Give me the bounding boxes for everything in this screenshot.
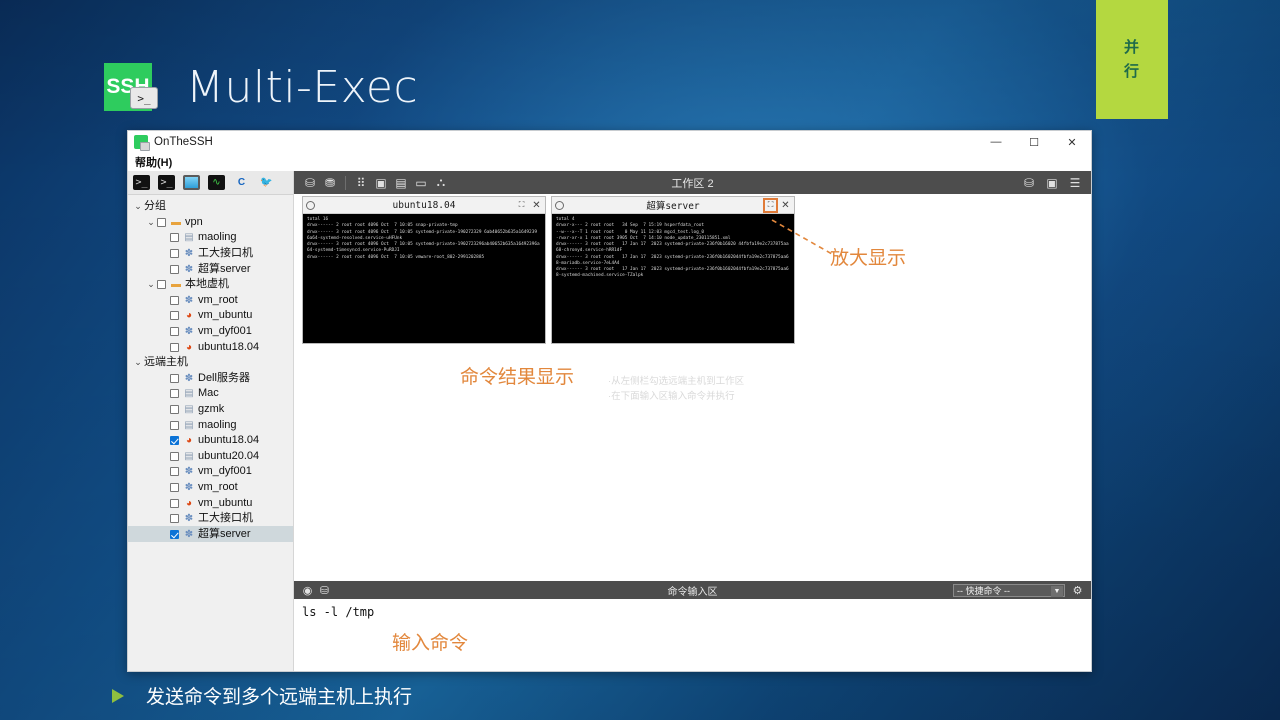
chevron-down-icon[interactable]: ⌄ bbox=[158, 404, 170, 415]
ubuntu-icon: ◕ bbox=[183, 310, 195, 321]
disk-icon[interactable]: ▭ bbox=[411, 173, 431, 192]
terminal-output: total 16 drwx------ 2 root root 4096 Oct… bbox=[303, 214, 545, 343]
parallel-tag-char-2: 行 bbox=[1124, 60, 1140, 83]
chevron-down-icon[interactable]: ⌄ bbox=[158, 342, 170, 353]
cpu-icon[interactable]: ▣ bbox=[371, 173, 391, 192]
annotation-hint-2: ·在下面输入区输入命令并执行 bbox=[608, 390, 744, 405]
puzzle-icon: ✽ bbox=[183, 482, 195, 493]
tree-item-label: vm_root bbox=[198, 482, 238, 493]
menu-item-help[interactable]: 帮助(H) bbox=[135, 154, 172, 170]
ubuntu-icon: ◕ bbox=[183, 435, 195, 446]
tree-item-checkbox[interactable] bbox=[170, 389, 179, 398]
chevron-down-icon[interactable]: ⌄ bbox=[158, 264, 170, 275]
tree-item-checkbox[interactable] bbox=[170, 343, 179, 352]
clipboard-icon[interactable]: ⛁ bbox=[316, 583, 333, 598]
puzzle-icon: ✽ bbox=[183, 295, 195, 306]
close-icon[interactable]: ✕ bbox=[780, 200, 791, 211]
folder-icon: ▬ bbox=[170, 279, 182, 290]
tree-item[interactable]: ⌄▤Mac bbox=[128, 386, 293, 402]
tree-item[interactable]: ⌄✽vm_root bbox=[128, 480, 293, 496]
tree-item-label: maoling bbox=[198, 232, 237, 243]
doc-icon: ▤ bbox=[183, 404, 195, 415]
tree-item-checkbox[interactable] bbox=[170, 405, 179, 414]
terminal-panel-header: 超算server⛶✕ bbox=[552, 197, 794, 214]
host-tree[interactable]: ⌄分组⌄▬vpn⌄▤maoling⌄✽工大接口机⌄✽超算server⌄▬本地虚机… bbox=[128, 195, 293, 671]
triangle-bullet-icon bbox=[112, 689, 124, 703]
maximize-button[interactable]: ☐ bbox=[1015, 131, 1053, 153]
tree-item-label: maoling bbox=[198, 420, 237, 431]
chevron-down-icon[interactable]: ⌄ bbox=[158, 435, 170, 446]
tree-item[interactable]: ⌄◕ubuntu18.04 bbox=[128, 339, 293, 355]
tree-item-label: gzmk bbox=[198, 404, 224, 415]
tree-item-checkbox[interactable] bbox=[170, 436, 179, 445]
tree-item-checkbox[interactable] bbox=[170, 421, 179, 430]
parallel-tag-char-1: 并 bbox=[1124, 36, 1140, 59]
chevron-down-icon[interactable]: ⌄ bbox=[145, 279, 157, 290]
chevron-down-icon[interactable]: ▼ bbox=[1051, 586, 1063, 597]
command-bar-right: -- 快捷命令 -- ▼ ⚙ bbox=[953, 583, 1086, 598]
upload-icon[interactable]: ⛁ bbox=[300, 173, 320, 192]
tree-item[interactable]: ⌄✽超算server bbox=[128, 526, 293, 542]
puzzle-icon: ✽ bbox=[183, 529, 195, 540]
bottom-bullet-text: 发送命令到多个远端主机上执行 bbox=[146, 682, 412, 709]
circle-icon bbox=[306, 201, 315, 210]
download-icon[interactable]: ⛃ bbox=[320, 173, 340, 192]
tree-item-checkbox[interactable] bbox=[170, 530, 179, 539]
tree-item[interactable]: ⌄✽vm_dyf001 bbox=[128, 324, 293, 340]
bottom-bullet: 发送命令到多个远端主机上执行 bbox=[112, 682, 412, 709]
tree-item[interactable]: ⌄◕ubuntu18.04 bbox=[128, 433, 293, 449]
tree-item-checkbox[interactable] bbox=[170, 311, 179, 320]
puzzle-icon: ✽ bbox=[183, 466, 195, 477]
tree-item-label: vm_dyf001 bbox=[198, 326, 252, 337]
clipboard-icon[interactable]: ⛁ bbox=[1019, 173, 1039, 192]
puzzle-icon: ✽ bbox=[183, 248, 195, 259]
play-icon[interactable]: ◉ bbox=[299, 583, 316, 598]
terminal-panel-title: ubuntu18.04 bbox=[303, 200, 545, 211]
tree-item-checkbox[interactable] bbox=[157, 218, 166, 227]
tree-item-checkbox[interactable] bbox=[170, 499, 179, 508]
terminal-panel-title: 超算server bbox=[552, 198, 794, 212]
tree-item-label: vm_ubuntu bbox=[198, 498, 252, 509]
main-area: ⛁ ⛃ ⠿ ▣ ▤ ▭ ⛬ 工作区 2 ⛁ ▣ ☰ ubuntu18.04⛶✕t… bbox=[294, 171, 1091, 671]
tree-item-label: vpn bbox=[185, 217, 203, 228]
tree-item-checkbox[interactable] bbox=[170, 249, 179, 258]
doc-icon: ▤ bbox=[183, 388, 195, 399]
sidebar: >_ >_ ∿ C 🐦 ⌄分组⌄▬vpn⌄▤maoling⌄✽工大接口机⌄✽超算… bbox=[128, 171, 294, 671]
quick-command-value: -- 快捷命令 -- bbox=[957, 584, 1010, 597]
tree-item-checkbox[interactable] bbox=[170, 296, 179, 305]
terminal-icon[interactable]: >_ bbox=[133, 175, 150, 190]
chevron-down-icon[interactable]: ⌄ bbox=[158, 451, 170, 462]
tree-item-checkbox[interactable] bbox=[157, 280, 166, 289]
tree-item-label: vm_ubuntu bbox=[198, 310, 252, 321]
expand-icon[interactable]: ⛶ bbox=[765, 200, 776, 211]
puzzle-icon: ✽ bbox=[183, 326, 195, 337]
terminal-panel[interactable]: ubuntu18.04⛶✕total 16 drwx------ 2 root … bbox=[302, 196, 546, 344]
annotation-hints: ·从左侧栏勾选远端主机到工作区 ·在下面输入区输入命令并执行 bbox=[608, 375, 744, 404]
window-title: OnTheSSH bbox=[154, 136, 213, 148]
close-button[interactable]: ✕ bbox=[1053, 131, 1091, 153]
doc-icon: ▤ bbox=[183, 420, 195, 431]
tree-item-label: ubuntu18.04 bbox=[198, 435, 259, 446]
file-icon[interactable]: ▤ bbox=[391, 173, 411, 192]
tree-item[interactable]: ⌄✽工大接口机 bbox=[128, 246, 293, 262]
tree-item[interactable]: ⌄▤gzmk bbox=[128, 402, 293, 418]
chevron-down-icon[interactable]: ⌄ bbox=[158, 373, 170, 384]
doc-icon: ▤ bbox=[183, 232, 195, 243]
tree-item-checkbox[interactable] bbox=[170, 327, 179, 336]
tree-item[interactable]: ⌄▤ubuntu20.04 bbox=[128, 449, 293, 465]
chevron-down-icon[interactable]: ⌄ bbox=[158, 466, 170, 477]
close-icon[interactable]: ✕ bbox=[531, 200, 542, 211]
chevron-down-icon[interactable]: ⌄ bbox=[158, 498, 170, 509]
shell-icon[interactable]: >_ bbox=[158, 175, 175, 190]
tree-item[interactable]: ⌄远端主机 bbox=[128, 355, 293, 371]
tree-item-checkbox[interactable] bbox=[170, 514, 179, 523]
tree-item[interactable]: ⌄分组 bbox=[128, 199, 293, 215]
menubar: 帮助(H) bbox=[128, 153, 1091, 171]
terminal-output: total 4 drwxr-x--- 2 root root 34 Sep 7 … bbox=[552, 214, 794, 343]
tree-item-label: Dell服务器 bbox=[198, 373, 250, 384]
chevron-down-icon[interactable]: ⌄ bbox=[132, 201, 144, 212]
ssh-logo: SSH >_ bbox=[104, 63, 156, 115]
chevron-down-icon[interactable]: ⌄ bbox=[158, 420, 170, 431]
terminal-panel-buttons: ⛶✕ bbox=[765, 200, 791, 211]
tree-item[interactable]: ⌄✽vm_root bbox=[128, 293, 293, 309]
terminal-panel-buttons: ⛶✕ bbox=[516, 200, 542, 211]
tree-item-label: 工大接口机 bbox=[198, 248, 253, 259]
tree-item-label: vm_dyf001 bbox=[198, 466, 252, 477]
tree-item[interactable]: ⌄◕vm_ubuntu bbox=[128, 495, 293, 511]
tree-item-label: ubuntu20.04 bbox=[198, 451, 259, 462]
puzzle-icon: ✽ bbox=[183, 513, 195, 524]
tree-item-checkbox[interactable] bbox=[170, 452, 179, 461]
annotation-hint-1: ·从左侧栏勾选远端主机到工作区 bbox=[608, 375, 744, 390]
chevron-down-icon[interactable]: ⌄ bbox=[158, 529, 170, 540]
circle-icon bbox=[555, 201, 564, 210]
tree-item[interactable]: ⌄▬本地虚机 bbox=[128, 277, 293, 293]
tree-item-checkbox[interactable] bbox=[170, 233, 179, 242]
tree-item-label: ubuntu18.04 bbox=[198, 342, 259, 353]
chevron-down-icon[interactable]: ⌄ bbox=[158, 248, 170, 259]
minimize-button[interactable]: — bbox=[977, 131, 1015, 153]
tree-item-label: Mac bbox=[198, 388, 219, 399]
chevron-down-icon[interactable]: ⌄ bbox=[145, 217, 157, 228]
annotation-result: 命令结果显示 bbox=[460, 362, 574, 389]
sidebar-toolbar: >_ >_ ∿ C 🐦 bbox=[128, 171, 293, 195]
annotation-input: 输入命令 bbox=[392, 628, 468, 655]
expand-icon[interactable]: ⛶ bbox=[516, 200, 527, 211]
quick-command-select[interactable]: -- 快捷命令 -- ▼ bbox=[953, 584, 1065, 597]
tree-item[interactable]: ⌄✽Dell服务器 bbox=[128, 371, 293, 387]
parallel-tag: 并 行 bbox=[1096, 0, 1168, 119]
doc-icon: ▤ bbox=[183, 451, 195, 462]
tree-item[interactable]: ⌄▤maoling bbox=[128, 230, 293, 246]
monitor-graph-icon[interactable]: ∿ bbox=[208, 175, 225, 190]
window-controls: — ☐ ✕ bbox=[977, 131, 1091, 153]
chevron-down-icon[interactable]: ⌄ bbox=[158, 232, 170, 243]
tree-item[interactable]: ⌄✽超算server bbox=[128, 261, 293, 277]
workspace-toolbar: ⛁ ⛃ ⠿ ▣ ▤ ▭ ⛬ 工作区 2 ⛁ ▣ ☰ bbox=[294, 171, 1091, 194]
puzzle-icon: ✽ bbox=[183, 373, 195, 384]
annotation-zoom: 放大显示 bbox=[830, 243, 906, 270]
page-title: Multi-Exec bbox=[186, 62, 418, 113]
c-icon[interactable]: C bbox=[233, 175, 250, 190]
tree-item-label: 工大接口机 bbox=[198, 513, 253, 524]
chevron-down-icon[interactable]: ⌄ bbox=[158, 295, 170, 306]
app-icon bbox=[134, 135, 148, 149]
chevron-down-icon[interactable]: ⌄ bbox=[158, 388, 170, 399]
tree-item-label: 远端主机 bbox=[144, 357, 188, 368]
chevron-down-icon[interactable]: ⌄ bbox=[158, 482, 170, 493]
terminal-icon[interactable]: ▣ bbox=[1042, 173, 1062, 192]
tree-item[interactable]: ⌄◕vm_ubuntu bbox=[128, 308, 293, 324]
tree-item-label: vm_root bbox=[198, 295, 238, 306]
terminal-panel-header: ubuntu18.04⛶✕ bbox=[303, 197, 545, 214]
tree-item[interactable]: ⌄▬vpn bbox=[128, 215, 293, 231]
toolbar-divider bbox=[345, 176, 346, 190]
tree-item-label: 本地虚机 bbox=[185, 279, 229, 290]
grid-icon[interactable]: ⠿ bbox=[351, 173, 371, 192]
chevron-down-icon[interactable]: ⌄ bbox=[132, 357, 144, 368]
tree-item[interactable]: ⌄▤maoling bbox=[128, 417, 293, 433]
network-icon[interactable]: ⛬ bbox=[431, 173, 451, 192]
workspace-toolbar-right: ⛁ ▣ ☰ bbox=[1019, 173, 1085, 192]
monitor-icon[interactable] bbox=[183, 175, 200, 190]
tree-item-checkbox[interactable] bbox=[170, 265, 179, 274]
tree-item-label: 超算server bbox=[198, 529, 251, 540]
bird-icon[interactable]: 🐦 bbox=[258, 175, 275, 190]
list-icon[interactable]: ☰ bbox=[1065, 173, 1085, 192]
command-bar: ◉ ⛁ 命令输入区 -- 快捷命令 -- ▼ ⚙ bbox=[294, 581, 1091, 599]
window-titlebar: OnTheSSH — ☐ ✕ bbox=[128, 131, 1091, 153]
gear-icon[interactable]: ⚙ bbox=[1069, 583, 1086, 598]
terminal-panel[interactable]: 超算server⛶✕total 4 drwxr-x--- 2 root root… bbox=[551, 196, 795, 344]
folder-icon: ▬ bbox=[170, 217, 182, 228]
tree-item[interactable]: ⌄✽vm_dyf001 bbox=[128, 464, 293, 480]
puzzle-icon: ✽ bbox=[183, 264, 195, 275]
tree-item-label: 分组 bbox=[144, 201, 166, 212]
ubuntu-icon: ◕ bbox=[183, 342, 195, 353]
tree-item-checkbox[interactable] bbox=[170, 374, 179, 383]
terminal-badge-icon: >_ bbox=[130, 87, 158, 109]
tree-item-checkbox[interactable] bbox=[170, 467, 179, 476]
chevron-down-icon[interactable]: ⌄ bbox=[158, 326, 170, 337]
chevron-down-icon[interactable]: ⌄ bbox=[158, 513, 170, 524]
chevron-down-icon[interactable]: ⌄ bbox=[158, 310, 170, 321]
tree-item-checkbox[interactable] bbox=[170, 483, 179, 492]
tree-item[interactable]: ⌄✽工大接口机 bbox=[128, 511, 293, 527]
tree-item-label: 超算server bbox=[198, 264, 251, 275]
ubuntu-icon: ◕ bbox=[183, 498, 195, 509]
